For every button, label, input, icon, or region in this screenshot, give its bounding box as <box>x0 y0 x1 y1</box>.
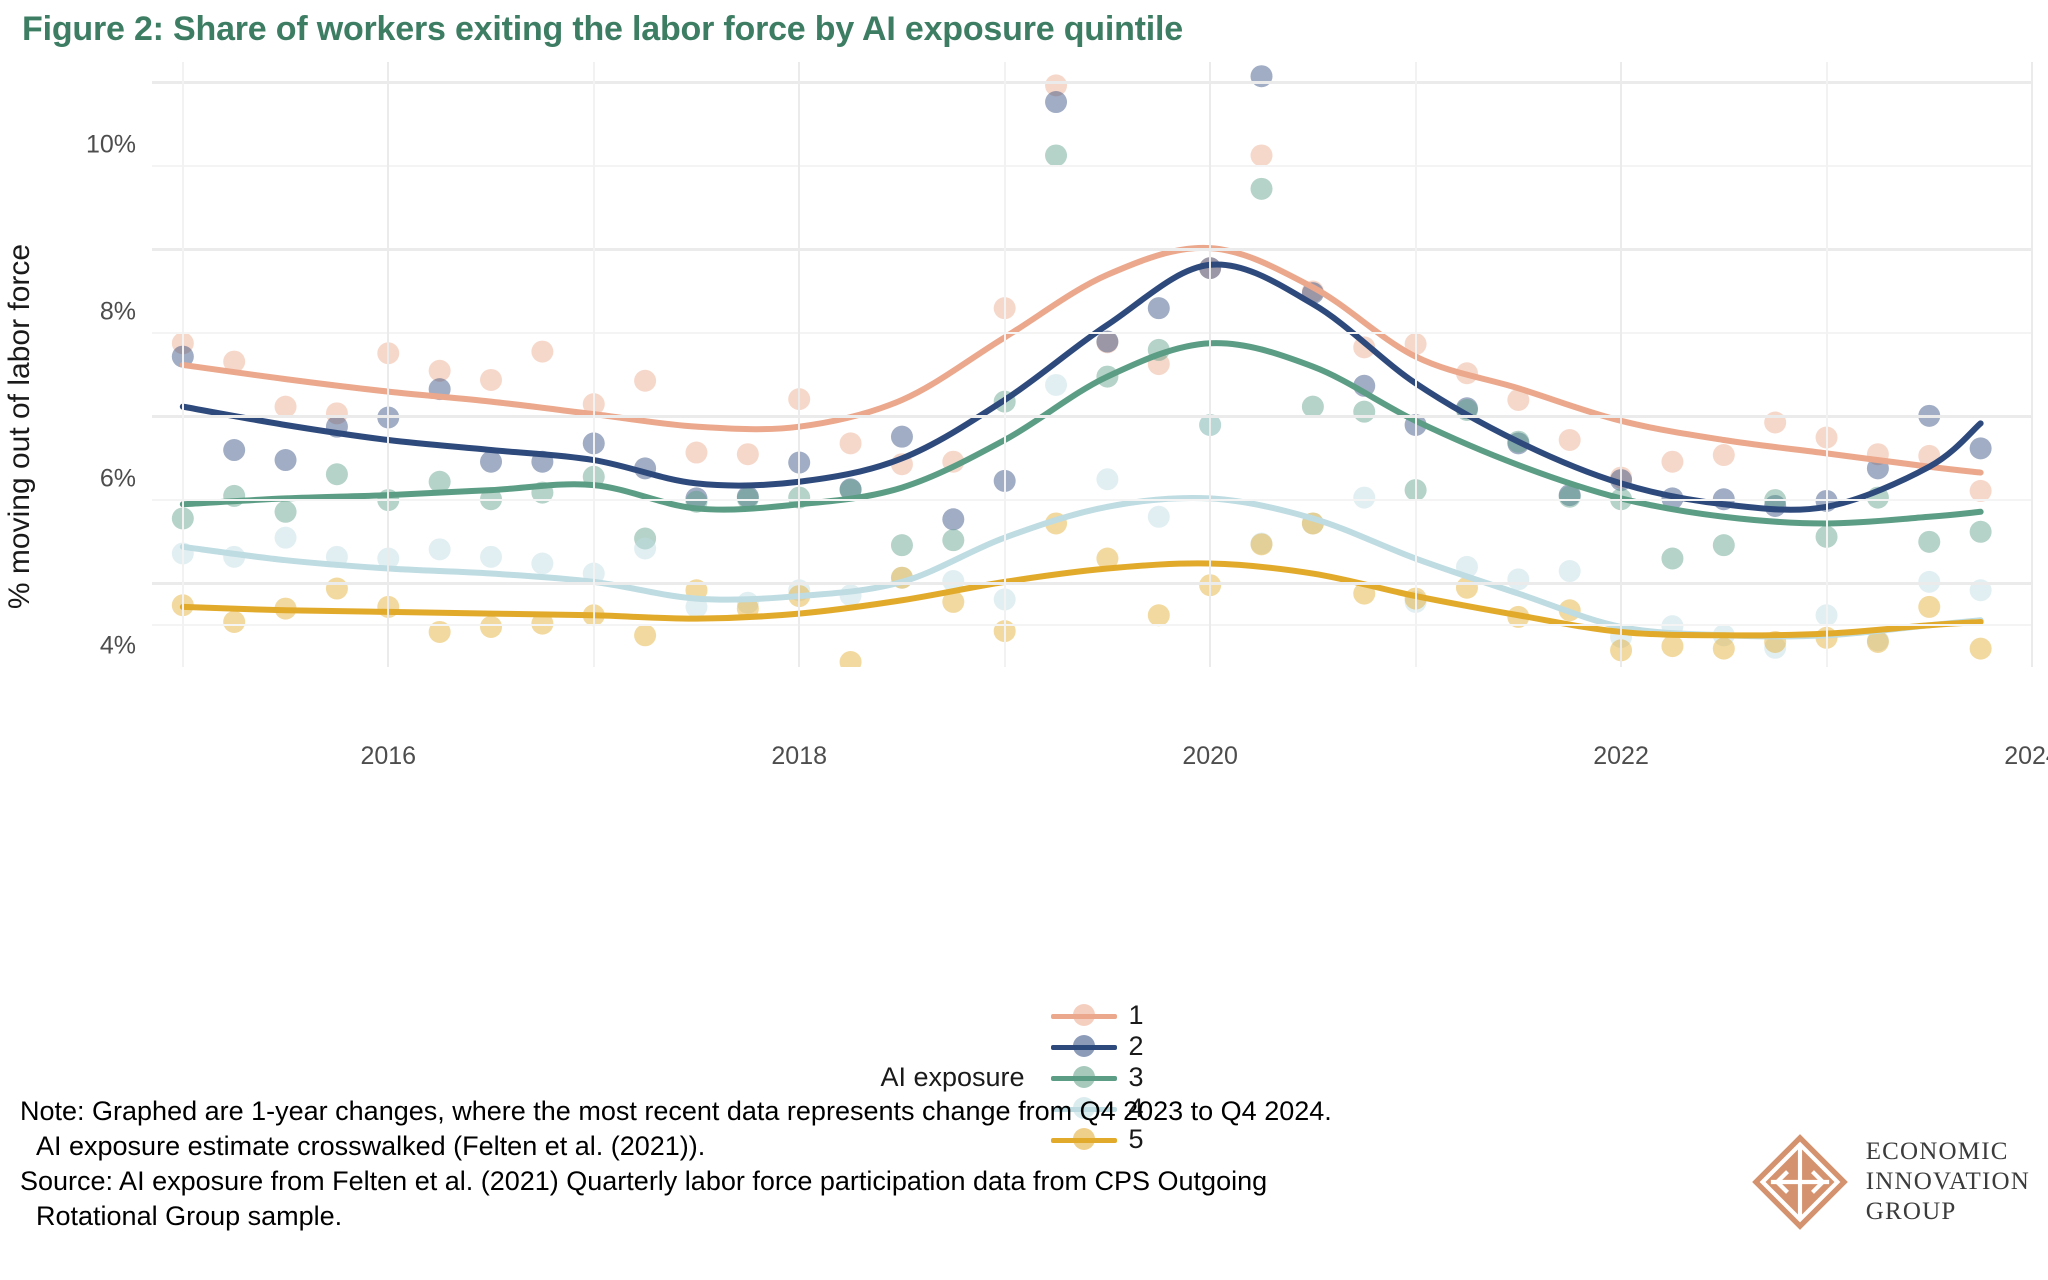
data-point <box>1148 604 1170 626</box>
x-axis-tick-label: 2024 <box>2004 742 2048 771</box>
data-point <box>1661 635 1683 657</box>
figure-notes: Note: Graphed are 1-year changes, where … <box>20 1094 1660 1234</box>
gridline-horizontal <box>152 248 2032 251</box>
data-point <box>1713 638 1735 660</box>
gridline-vertical <box>2031 62 2033 667</box>
data-series-layer <box>152 62 2032 667</box>
data-point <box>531 553 553 575</box>
data-point <box>275 501 297 523</box>
logo-line-3: GROUP <box>1866 1197 2030 1227</box>
note-line-1: Note: Graphed are 1-year changes, where … <box>20 1094 1660 1129</box>
data-point <box>223 439 245 461</box>
data-point <box>1970 521 1992 543</box>
data-point <box>480 451 502 473</box>
data-point <box>275 527 297 549</box>
data-point <box>1970 638 1992 660</box>
page-title: Figure 2: Share of workers exiting the l… <box>22 10 1183 49</box>
trend-line-1 <box>183 248 1981 473</box>
gridline-horizontal-minor <box>152 332 2032 334</box>
legend-item-label: 2 <box>1129 1031 1144 1062</box>
data-point <box>480 616 502 638</box>
x-axis-tick-label: 2022 <box>1593 742 1649 771</box>
data-point <box>840 651 862 667</box>
data-point <box>1148 506 1170 528</box>
gridline-horizontal-minor <box>152 165 2032 167</box>
legend-item-1[interactable]: 1 <box>1051 1000 1144 1031</box>
legend-item-label: 3 <box>1129 1062 1144 1093</box>
y-axis-tick-labels: 10%8%6%4% <box>0 124 150 729</box>
legend-key-icon <box>1051 1065 1117 1091</box>
legend-title: AI exposure <box>880 1062 1024 1093</box>
gridline-horizontal <box>152 582 2032 585</box>
data-point <box>1251 144 1273 166</box>
data-point <box>1661 451 1683 473</box>
gridline-vertical <box>798 62 800 667</box>
gridline-vertical-minor <box>1415 62 1417 667</box>
legend-point-swatch <box>1073 1035 1095 1057</box>
data-point <box>634 624 656 646</box>
data-point <box>1148 297 1170 319</box>
data-point <box>891 534 913 556</box>
data-point <box>1251 178 1273 200</box>
x-axis-tick-label: 2018 <box>771 742 827 771</box>
data-point <box>1713 444 1735 466</box>
legend-item-2[interactable]: 2 <box>1051 1031 1144 1062</box>
data-point <box>891 426 913 448</box>
data-point <box>685 442 707 464</box>
legend-item-3[interactable]: 3 <box>1051 1062 1144 1093</box>
gridline-horizontal-minor <box>152 499 2032 501</box>
data-point <box>1353 487 1375 509</box>
data-point <box>942 508 964 530</box>
data-point <box>634 370 656 392</box>
gridline-vertical-minor <box>1004 62 1006 667</box>
x-axis-tick-label: 2016 <box>360 742 416 771</box>
data-point <box>1045 144 1067 166</box>
data-point <box>1251 533 1273 555</box>
logo-wordmark: ECONOMIC INNOVATION GROUP <box>1866 1137 2030 1227</box>
legend-key-icon <box>1051 1003 1117 1029</box>
data-point <box>1559 560 1581 582</box>
source-line-1: Source: AI exposure from Felten et al. (… <box>20 1164 1660 1199</box>
trend-line-3 <box>183 343 1981 523</box>
gridline-horizontal <box>152 415 2032 418</box>
data-point <box>326 578 348 600</box>
data-point <box>1918 531 1940 553</box>
data-point <box>634 538 656 560</box>
note-line-2: AI exposure estimate crosswalked (Felten… <box>20 1129 1660 1164</box>
gridline-vertical <box>1620 62 1622 667</box>
logo-line-1: ECONOMIC <box>1866 1137 2030 1167</box>
data-point <box>1918 596 1940 618</box>
data-point <box>480 369 502 391</box>
data-point <box>1353 401 1375 423</box>
data-point <box>1661 548 1683 570</box>
y-axis-tick-label: 6% <box>100 464 136 493</box>
x-axis-tick-labels: 20162018202020222024 <box>152 742 2032 782</box>
source-line-2: Rotational Group sample. <box>20 1199 1660 1234</box>
eig-diamond-icon <box>1748 1130 1852 1234</box>
legend-point-swatch <box>1073 1004 1095 1026</box>
data-point <box>480 546 502 568</box>
legend-point-swatch <box>1073 1066 1095 1088</box>
data-point <box>1507 568 1529 590</box>
y-axis-tick-label: 4% <box>100 631 136 660</box>
data-point <box>1559 429 1581 451</box>
data-point <box>840 432 862 454</box>
legend-key-icon <box>1051 1034 1117 1060</box>
gridline-vertical <box>1209 62 1211 667</box>
data-point <box>737 443 759 465</box>
data-point <box>1559 486 1581 508</box>
data-point <box>326 463 348 485</box>
x-axis-tick-label: 2020 <box>1182 742 1238 771</box>
trend-line-2 <box>183 264 1981 509</box>
data-point <box>429 538 451 560</box>
plot-area <box>152 62 2032 667</box>
logo-line-2: INNOVATION <box>1866 1167 2030 1197</box>
gridline-vertical-minor <box>593 62 595 667</box>
gridline-horizontal-minor <box>152 624 2032 626</box>
data-point <box>223 611 245 633</box>
data-point <box>275 449 297 471</box>
organization-logo: ECONOMIC INNOVATION GROUP <box>1748 1130 2030 1234</box>
gridline-vertical <box>387 62 389 667</box>
data-point <box>1096 468 1118 490</box>
gridline-vertical-minor <box>182 62 184 667</box>
y-axis-tick-label: 10% <box>86 130 136 159</box>
data-point <box>1970 437 1992 459</box>
data-point <box>1045 91 1067 113</box>
legend-item-label: 1 <box>1129 1000 1144 1031</box>
chart-figure: % moving out of labor force 10%8%6%4% 20… <box>0 62 2048 902</box>
gridline-vertical-minor <box>1826 62 1828 667</box>
gridline-horizontal <box>152 81 2032 84</box>
data-point <box>531 341 553 363</box>
y-axis-tick-label: 8% <box>100 297 136 326</box>
data-point <box>1045 374 1067 396</box>
data-point <box>1713 534 1735 556</box>
data-point <box>942 529 964 551</box>
